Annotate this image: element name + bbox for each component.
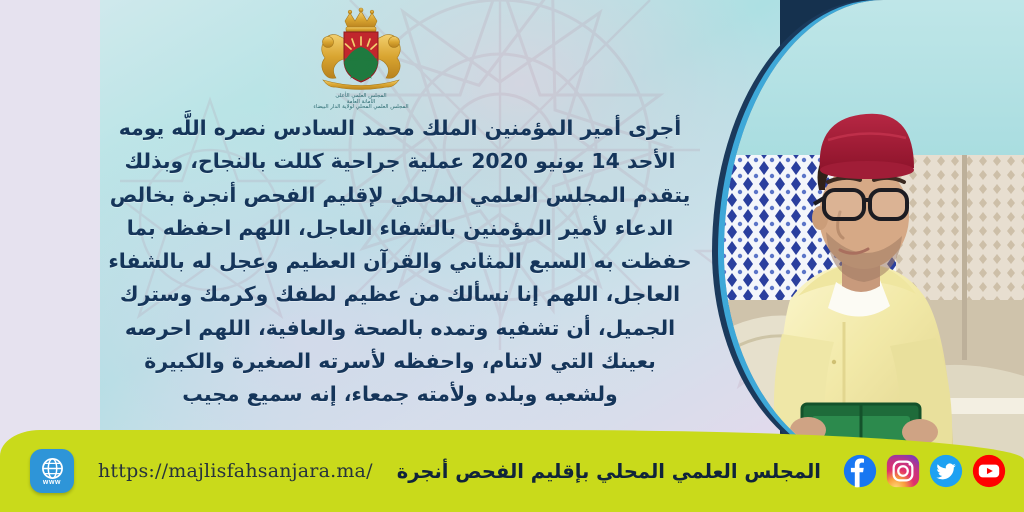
www-label: www	[43, 479, 61, 486]
instagram-icon[interactable]	[886, 454, 920, 488]
photo-panel	[724, 0, 1024, 470]
globe-icon	[41, 457, 64, 480]
footer-bar: www https://majlisfahsanjara.ma/ المجلس …	[0, 430, 1024, 512]
king-portrait-photo	[724, 0, 1024, 470]
social-links	[843, 454, 1006, 488]
text-line: الأحد 14 يونيو 2020 عملية جراحية كللت با…	[96, 145, 704, 178]
facebook-icon[interactable]	[843, 454, 877, 488]
text-line: أجرى أمير المؤمنين الملك محمد السادس نصر…	[96, 112, 704, 145]
emblem-caption-line-3: المجلس العلمي المحلي لولاية الدار البيضا…	[296, 105, 426, 111]
site-url[interactable]: https://majlisfahsanjara.ma/	[98, 460, 373, 482]
text-line: حفظت به السبع المثاني والقرآن العظيم وعج…	[96, 245, 704, 278]
announcement-text: أجرى أمير المؤمنين الملك محمد السادس نصر…	[96, 112, 704, 412]
text-line: يتقدم المجلس العلمي المحلي لإقليم الفحص …	[96, 179, 704, 212]
text-line: بعينك التي لاتنام، واحفظه لأسرته الصغيرة…	[96, 345, 704, 378]
twitter-icon[interactable]	[929, 454, 963, 488]
text-line: العاجل، اللهم إنا نسألك من عظيم لطفك وكر…	[96, 278, 704, 311]
organization-name: المجلس العلمي المحلي بإقليم الفحص أنجرة	[397, 460, 821, 483]
coat-of-arms-icon	[306, 6, 416, 94]
website-badge[interactable]: www	[30, 449, 74, 493]
text-line: ولشعبه وبلده ولأمته جمعاء، إنه سميع مجيب	[96, 378, 704, 411]
youtube-icon[interactable]	[972, 454, 1006, 488]
text-line: الدعاء لأمير المؤمنين بالشفاء العاجل، ال…	[96, 212, 704, 245]
text-line: الجميل، أن تشفيه وتمده بالصحة والعافية، …	[96, 312, 704, 345]
announcement-card: المجلس العلمي الأعلى الأمانة العامة المج…	[0, 0, 1024, 512]
emblem: المجلس العلمي الأعلى الأمانة العامة المج…	[296, 6, 426, 121]
